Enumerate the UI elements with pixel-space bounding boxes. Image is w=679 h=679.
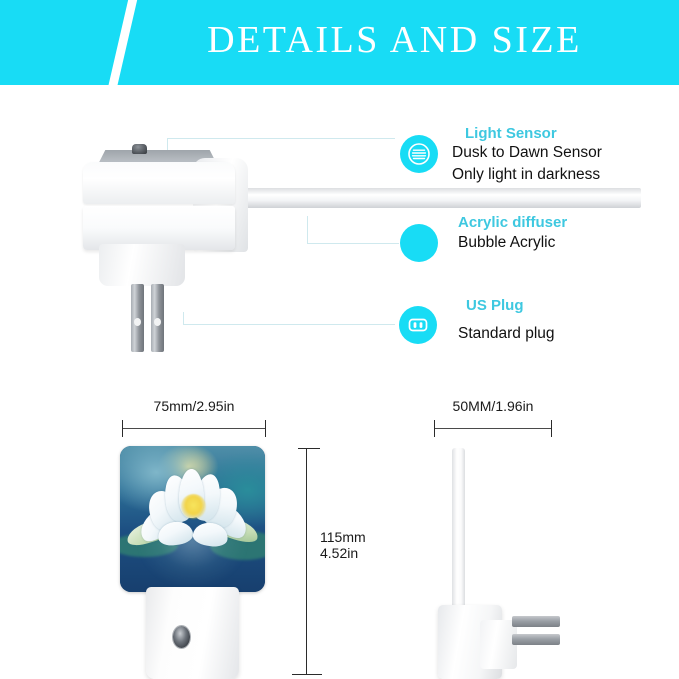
plug-neck	[99, 244, 185, 286]
dimension-tick-depth-right	[551, 420, 552, 437]
dimension-label-width: 75mm/2.95in	[122, 398, 266, 414]
leader-line-us-plug-horizontal	[183, 324, 395, 325]
feature-line-light-sensor-2: Only light in darkness	[452, 166, 600, 184]
dimension-label-height-in: 4.52in	[320, 545, 390, 561]
prong-hole-right	[154, 318, 161, 326]
dimension-tick-height-top	[298, 448, 320, 449]
prong-hole-left	[134, 318, 141, 326]
acrylic-panel-side-edge	[452, 448, 465, 612]
leader-line-diffuser-vertical	[307, 216, 308, 244]
acrylic-panel-edge	[221, 188, 641, 208]
product-infographic: DETAILS AND SIZE Light Sensor Dusk to Da	[0, 0, 679, 679]
feature-title-light-sensor: Light Sensor	[465, 125, 557, 142]
dimension-tick-height-bottom	[292, 674, 322, 675]
lotus-stamen	[181, 494, 206, 519]
plug-detail-diagram	[85, 132, 645, 352]
leader-line-diffuser-horizontal	[307, 243, 399, 244]
plug-prong-side-bottom	[512, 634, 560, 645]
dimension-tick-depth-left	[434, 420, 435, 437]
night-light-front-view	[119, 446, 266, 679]
night-light-plug-housing-side	[480, 620, 517, 669]
page-title: DETAILS AND SIZE	[0, 18, 679, 62]
dimension-tick-width-left	[122, 420, 123, 437]
header-banner: DETAILS AND SIZE	[0, 0, 679, 85]
plug-upper-shell	[83, 162, 235, 204]
night-light-base-front	[146, 587, 239, 679]
plug-prong-side-top	[512, 616, 560, 627]
leader-line-light-sensor-vertical	[167, 138, 168, 150]
water-reflection	[140, 534, 244, 587]
feature-line-us-plug-1: Standard plug	[458, 325, 555, 343]
night-light-side-view	[424, 446, 574, 679]
dimension-tick-width-right	[265, 420, 266, 437]
leader-line-light-sensor-horizontal	[167, 138, 395, 139]
feature-line-acrylic-diffuser-1: Bubble Acrylic	[458, 234, 555, 252]
leader-line-us-plug-vertical	[183, 312, 184, 325]
dimension-label-depth: 50MM/1.96in	[434, 398, 552, 414]
photo-sensor-front	[173, 626, 190, 648]
feature-title-us-plug: US Plug	[466, 297, 524, 314]
lotus-scene	[120, 446, 265, 592]
feature-title-acrylic-diffuser: Acrylic diffuser	[458, 214, 567, 231]
acrylic-diffuser-icon	[400, 224, 438, 262]
light-sensor-icon	[400, 135, 438, 173]
dimension-line-depth	[434, 428, 552, 429]
sensor-dot	[132, 144, 147, 154]
dimension-line-width	[122, 428, 266, 429]
dimension-label-height-mm: 115mm	[320, 529, 390, 545]
feature-line-light-sensor-1: Dusk to Dawn Sensor	[452, 144, 602, 162]
us-plug-icon	[399, 306, 437, 344]
lotus-artwork-panel	[120, 446, 265, 592]
dimension-line-height	[306, 448, 307, 675]
